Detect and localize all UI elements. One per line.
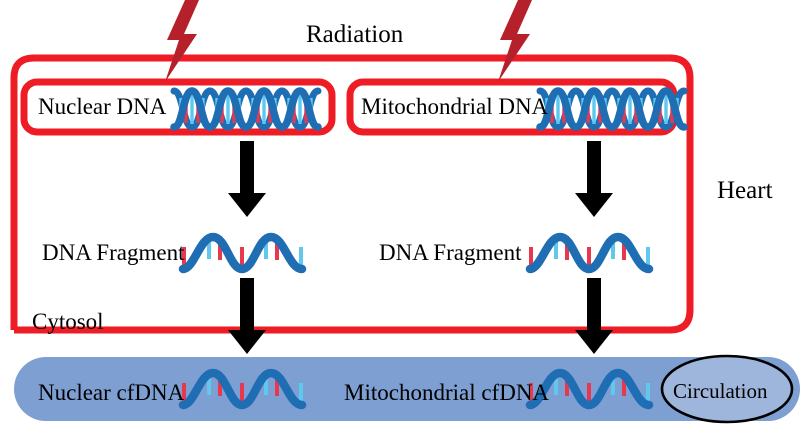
label-cytosol: Cytosol	[32, 310, 104, 333]
label-radiation: Radiation	[306, 22, 403, 47]
dna-fragment-wave-icon-mitochondrial	[530, 236, 649, 270]
down-arrow-icon-nuclear-to-fragment	[228, 141, 266, 217]
lightning-bolt-icon-left	[165, 0, 199, 82]
label-nuclear-dna: Nuclear DNA	[38, 95, 166, 118]
label-dna-fragment-right: DNA Fragment	[379, 241, 521, 264]
label-heart: Heart	[717, 178, 773, 203]
lightning-bolt-icon-right	[498, 0, 532, 82]
down-arrow-icon-nuclear-to-circulation	[228, 278, 266, 354]
label-nuclear-cfdna: Nuclear cfDNA	[38, 381, 184, 404]
label-circulation: Circulation	[673, 381, 767, 402]
diagram-canvas: Radiation Heart Cytosol Nuclear DNA Mito…	[0, 0, 800, 429]
dna-fragment-wave-icon-nuclear	[183, 236, 302, 270]
down-arrow-icon-mito-to-circulation	[575, 278, 613, 354]
diagram-graphics	[0, 0, 800, 429]
down-arrow-icon-mito-to-fragment	[575, 141, 613, 217]
label-mitochondrial-dna: Mitochondrial DNA	[361, 95, 548, 118]
label-mitochondrial-cfdna: Mitochondrial cfDNA	[344, 381, 549, 404]
label-dna-fragment-left: DNA Fragment	[42, 241, 184, 264]
